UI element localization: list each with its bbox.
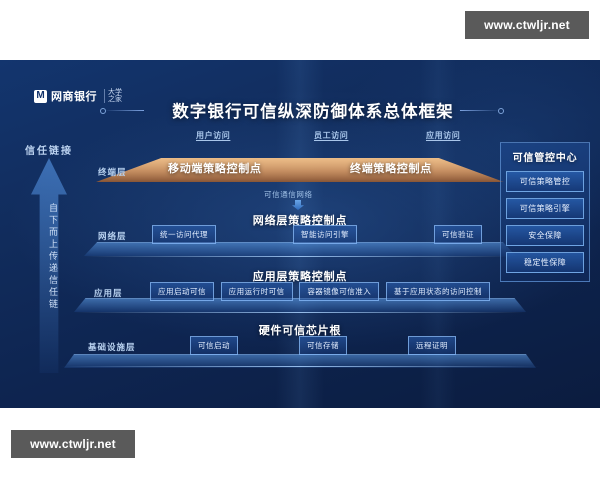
brand-sub: 大学 之家	[104, 89, 122, 104]
chip-remote-attestation[interactable]: 远程证明	[408, 336, 456, 355]
access-label-user: 用户访问	[196, 130, 230, 141]
chip-intelligent-access-engine[interactable]: 智能访问引擎	[293, 225, 357, 244]
access-label-staff: 员工访问	[314, 130, 348, 141]
trust-chain-heading: 信任链接	[14, 142, 84, 157]
layer-terminal: 用户访问 员工访问 应用访问 移动端策略控制点 终端策略控制点	[96, 142, 504, 184]
trust-chain-vertical-text: 自下而上传递信任链	[38, 192, 60, 322]
brand-sub-line1: 大学	[108, 89, 122, 96]
control-center-title: 可信管控中心	[506, 149, 584, 164]
application-chip-row: 应用启动可信 应用运行时可信 容器镜像可信准入 基于应用状态的访问控制	[150, 282, 490, 301]
chip-container-image-admission[interactable]: 容器镜像可信准入	[299, 282, 379, 301]
control-center-item-stability-assurance[interactable]: 稳定性保障	[506, 252, 584, 273]
access-label-app: 应用访问	[426, 130, 460, 141]
chip-trusted-boot[interactable]: 可信启动	[190, 336, 238, 355]
trusted-network-label: 可信通信网络	[264, 189, 313, 200]
brand-name: 网商银行	[51, 88, 97, 104]
application-edge-line	[74, 312, 526, 313]
watermark-top-text: www.ctwljr.net	[484, 18, 570, 32]
chip-trusted-verification[interactable]: 可信验证	[434, 225, 482, 244]
layer-label-network: 网络层	[98, 230, 127, 242]
title-dot-left-icon	[100, 108, 106, 114]
control-center-item-policy-management[interactable]: 可信策略管控	[506, 171, 584, 192]
title-dot-right-icon	[498, 108, 504, 114]
control-point-terminal: 终端策略控制点	[350, 160, 432, 176]
layer-label-application: 应用层	[94, 287, 123, 299]
down-arrow-icon	[292, 200, 304, 210]
access-label-row: 用户访问 员工访问 应用访问	[96, 130, 504, 144]
terminal-slab-highlight	[96, 158, 504, 182]
watermark-top: www.ctwljr.net	[465, 11, 589, 39]
brand-sub-line2: 之家	[108, 96, 122, 103]
chip-app-boot-trust[interactable]: 应用启动可信	[150, 282, 214, 301]
layer-label-infrastructure: 基础设施层	[88, 341, 136, 353]
control-point-mobile: 移动端策略控制点	[168, 160, 262, 176]
control-center-item-policy-engine[interactable]: 可信策略引擎	[506, 198, 584, 219]
infrastructure-edge-line	[60, 366, 540, 367]
watermark-bottom-text: www.ctwljr.net	[30, 437, 116, 451]
control-center-panel: 可信管控中心 可信策略管控 可信策略引擎 安全保障 稳定性保障	[500, 142, 590, 282]
watermark-bottom: www.ctwljr.net	[11, 430, 135, 458]
control-center-item-security-assurance[interactable]: 安全保障	[506, 225, 584, 246]
title-deco-left	[104, 110, 144, 111]
infrastructure-chip-row: 可信启动 可信存储 远程证明	[190, 336, 456, 355]
chip-app-runtime-trust[interactable]: 应用运行时可信	[221, 282, 293, 301]
page-title: 数字银行可信纵深防御体系总体框架	[148, 98, 478, 122]
brand-logo: M 网商银行 大学 之家	[34, 88, 122, 104]
network-chip-row: 统一访问代理 智能访问引擎 可信验证	[152, 225, 482, 244]
network-edge-line	[84, 256, 516, 257]
chip-state-based-access-control[interactable]: 基于应用状态的访问控制	[386, 282, 490, 301]
mybank-mark-icon: M	[34, 90, 47, 103]
diagram-canvas: M 网商银行 大学 之家 数字银行可信纵深防御体系总体框架 信任链接 自下而上传…	[0, 60, 600, 408]
network-plate	[84, 242, 516, 256]
chip-unified-access-proxy[interactable]: 统一访问代理	[152, 225, 216, 244]
layer-label-terminal: 终端层	[98, 166, 127, 178]
title-deco-right	[460, 110, 500, 111]
chip-trusted-storage[interactable]: 可信存储	[299, 336, 347, 355]
